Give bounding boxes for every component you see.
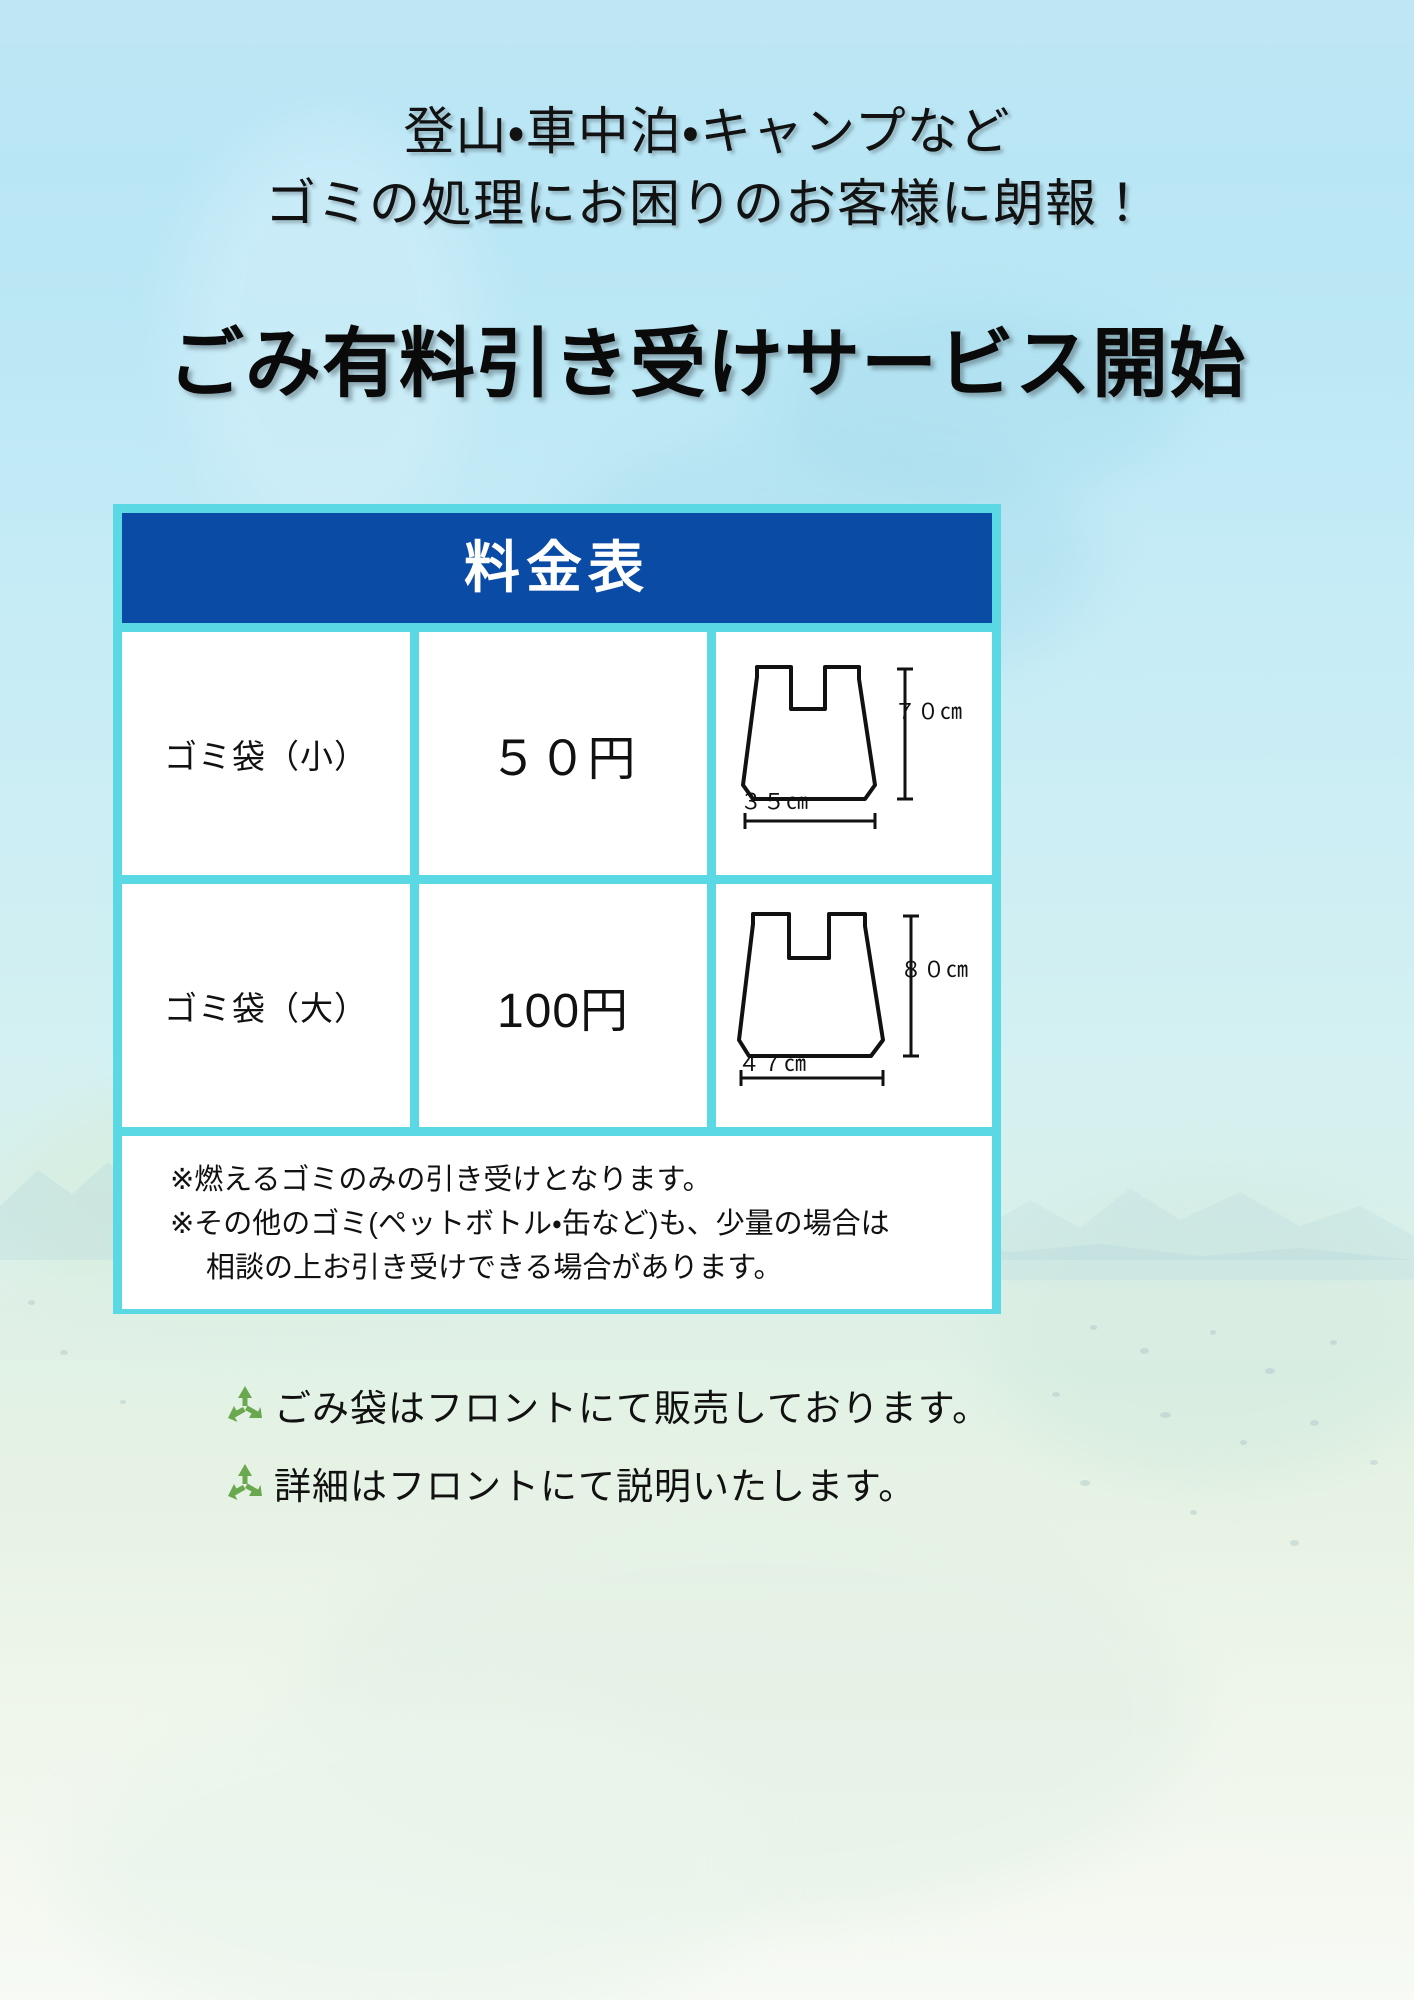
subheading: 登山・車中泊・キャンプなど ゴミの処理にお困りのお客様に朗報！ <box>0 96 1414 240</box>
footer-line: ごみ袋はフロントにて販売しております。 <box>0 1372 1414 1438</box>
note-line-2: ※その他のゴミ(ペットボトル・缶など)も、少量の場合は <box>170 1202 992 1246</box>
row-price-cell: 100円 <box>419 884 707 1127</box>
row-name-cell: ゴミ袋（小） <box>122 632 410 875</box>
bag-diagram-large: ８０㎝ ４７㎝ <box>716 884 992 1127</box>
poster-canvas: 登山・車中泊・キャンプなど ゴミの処理にお困りのお客様に朗報！ ごみ有料引き受け… <box>0 0 1414 2000</box>
bag-height-label-large: ８０㎝ <box>900 952 969 984</box>
note-line-1: ※燃えるゴミのみの引き受けとなります。 <box>170 1158 992 1202</box>
speckle <box>1140 1348 1149 1354</box>
footer: ごみ袋はフロントにて販売しております。 詳細はフロントにて説明いたします。 <box>0 1360 1414 1516</box>
bag-width-label-large: ４７㎝ <box>738 1046 807 1078</box>
bag-name-large: ゴミ袋（大） <box>164 982 368 1030</box>
price-table-body: ゴミ袋（小） ５０円 <box>122 623 992 1309</box>
page-title: ごみ有料引き受けサービス開始 <box>0 317 1414 413</box>
bag-diagram-small: ７０㎝ ３５㎝ <box>716 632 992 875</box>
price-table-header: 料金表 <box>122 513 992 623</box>
speckle <box>1090 1325 1097 1330</box>
bag-height-label-small: ７０㎝ <box>894 694 963 726</box>
note-line-3: 相談の上お引き受けできる場合があります。 <box>170 1246 992 1290</box>
recycle-icon <box>222 1460 268 1506</box>
price-table-notes: ※燃えるゴミのみの引き受けとなります。 ※その他のゴミ(ペットボトル・缶など)も… <box>122 1127 992 1309</box>
footer-line: 詳細はフロントにて説明いたします。 <box>0 1450 1414 1516</box>
speckle <box>1210 1330 1216 1335</box>
bag-name-small: ゴミ袋（小） <box>164 730 368 778</box>
footer-text-2: 詳細はフロントにて説明いたします。 <box>274 1456 916 1510</box>
subheading-line-2: ゴミの処理にお困りのお客様に朗報！ <box>0 168 1414 240</box>
bag-width-label-small: ３５㎝ <box>740 784 809 816</box>
speckle <box>1290 1540 1299 1546</box>
table-row: ゴミ袋（小） ５０円 <box>122 623 992 875</box>
subheading-line-1: 登山・車中泊・キャンプなど <box>0 96 1414 168</box>
row-image-cell: ８０㎝ ４７㎝ <box>716 884 992 1127</box>
recycle-icon <box>222 1382 268 1428</box>
row-name-cell: ゴミ袋（大） <box>122 884 410 1127</box>
price-table-header-label: 料金表 <box>464 540 650 596</box>
speckle <box>1330 1340 1337 1345</box>
table-row: ゴミ袋（大） 100円 <box>122 875 992 1127</box>
footer-text-1: ごみ袋はフロントにて販売しております。 <box>274 1378 990 1432</box>
row-image-cell: ７０㎝ ３５㎝ <box>716 632 992 875</box>
row-price-cell: ５０円 <box>419 632 707 875</box>
bag-price-small: ５０円 <box>489 719 636 789</box>
speckle <box>28 1300 35 1305</box>
speckle <box>60 1350 68 1355</box>
price-table: 料金表 ゴミ袋（小） ５０円 <box>113 504 1001 1314</box>
bag-price-large: 100円 <box>497 971 629 1041</box>
